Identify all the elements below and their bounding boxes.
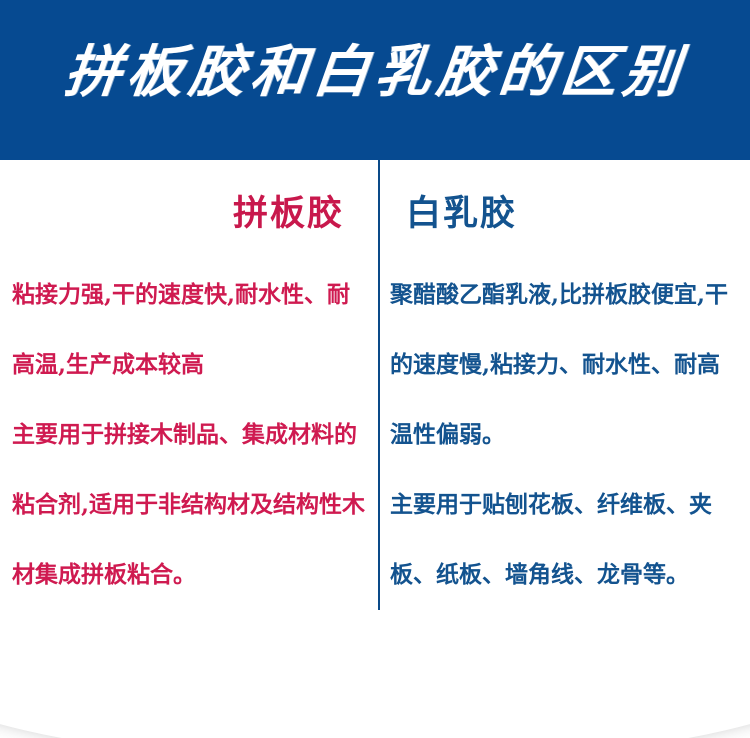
page-title: 拼板胶和白乳胶的区别: [0, 36, 750, 108]
footer-shadow-area: [0, 612, 750, 738]
column-left-paragraph-2: 主要用于拼接木制品、集成材料的粘合剂,适用于非结构材及结构性木材集成拼板粘合。: [0, 400, 366, 610]
curved-shadow-arc: [0, 612, 750, 738]
footer-edge-mask: [0, 612, 750, 613]
column-right-heading: 白乳胶: [390, 192, 738, 236]
column-left-body: 粘接力强,干的速度快,耐水性、耐高温,生产成本较高 主要用于拼接木制品、集成材料…: [0, 260, 366, 610]
column-right-paragraph-2: 主要用于贴刨花板、纤维板、夹板、纸板、墙角线、龙骨等。: [390, 470, 738, 610]
column-right-white-latex-glue: 白乳胶 聚醋酸乙酯乳液,比拼板胶便宜,干的速度慢,粘接力、耐水性、耐高温性偏弱。…: [390, 160, 738, 610]
column-left-joint-glue: 拼板胶 粘接力强,干的速度快,耐水性、耐高温,生产成本较高 主要用于拼接木制品、…: [0, 160, 366, 610]
comparison-section: 拼板胶 粘接力强,干的速度快,耐水性、耐高温,生产成本较高 主要用于拼接木制品、…: [0, 160, 750, 612]
product-comparison-page: 拼板胶和白乳胶的区别 拼板胶 粘接力强,干的速度快,耐水性、耐高温,生产成本较高…: [0, 0, 750, 738]
column-right-paragraph-1: 聚醋酸乙酯乳液,比拼板胶便宜,干的速度慢,粘接力、耐水性、耐高温性偏弱。: [390, 260, 738, 470]
column-right-body: 聚醋酸乙酯乳液,比拼板胶便宜,干的速度慢,粘接力、耐水性、耐高温性偏弱。 主要用…: [390, 260, 738, 610]
column-left-heading: 拼板胶: [0, 192, 366, 236]
column-divider: [378, 160, 380, 610]
column-left-paragraph-1: 粘接力强,干的速度快,耐水性、耐高温,生产成本较高: [0, 260, 366, 400]
header-banner: 拼板胶和白乳胶的区别: [0, 0, 750, 160]
